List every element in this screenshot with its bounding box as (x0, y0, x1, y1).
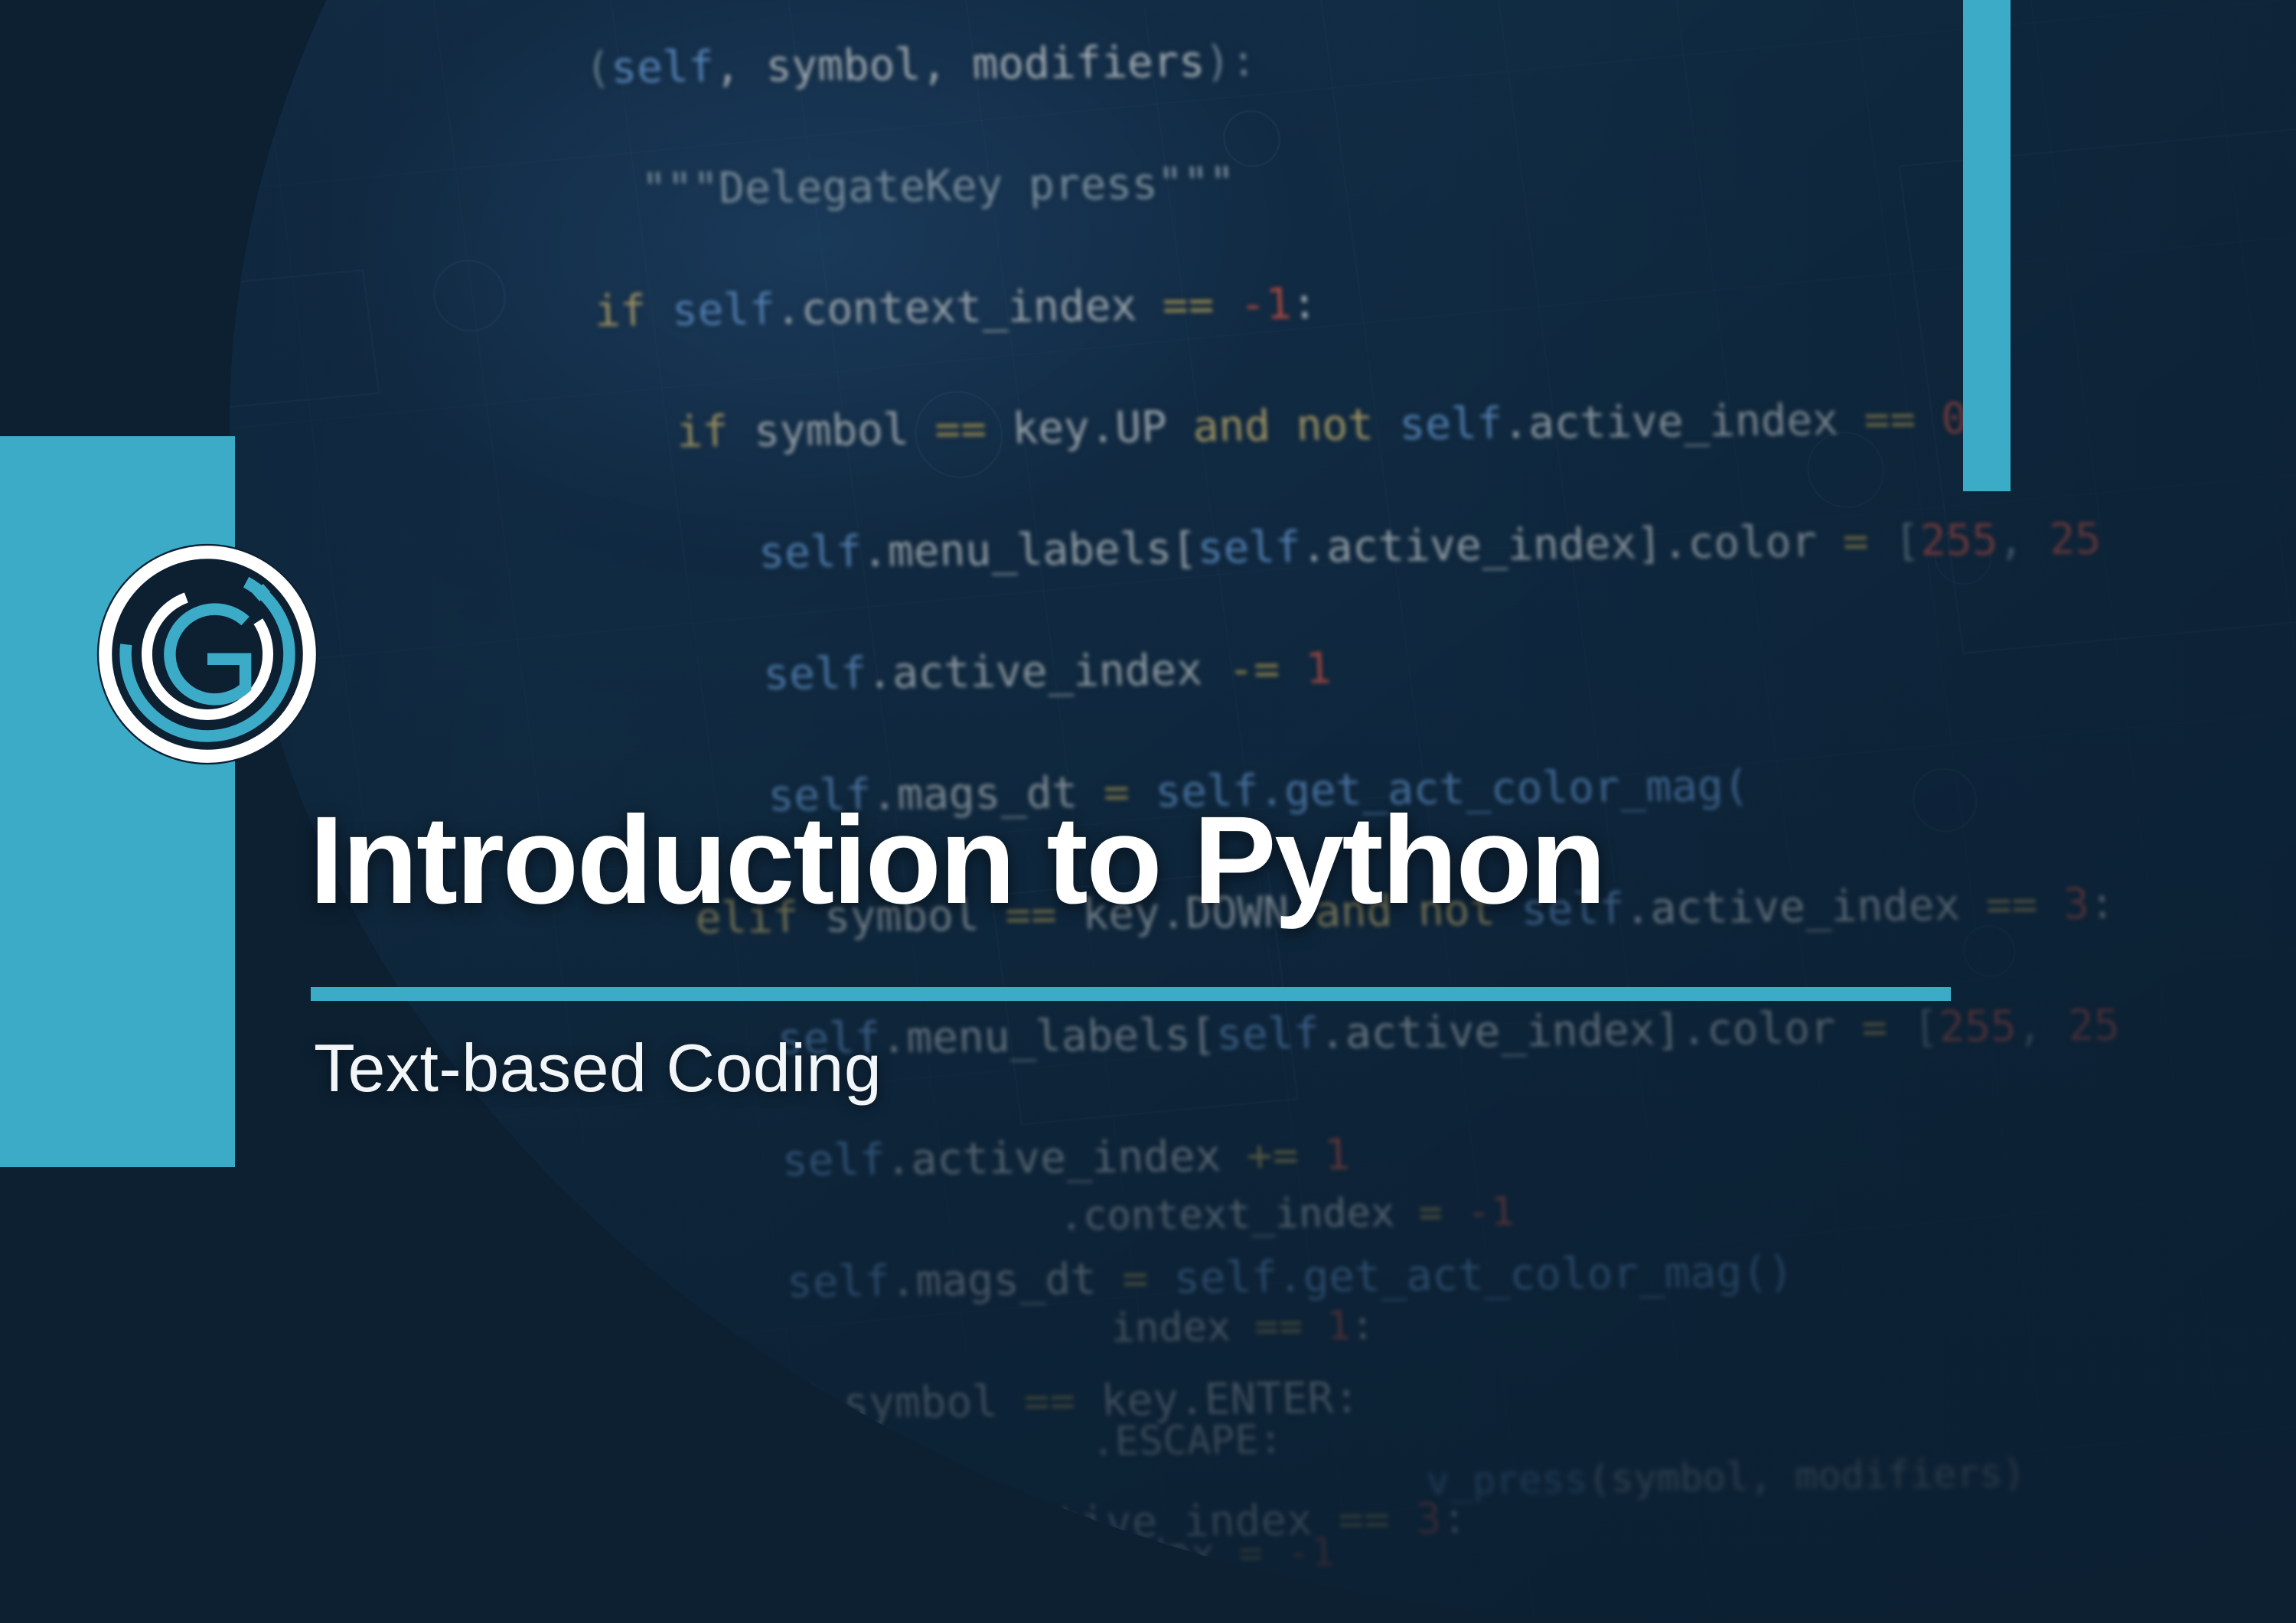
slide-subtitle: Text-based Coding (314, 1035, 882, 1102)
circular-g-logo-icon (89, 536, 326, 773)
accent-bar-vertical (1963, 0, 2011, 491)
brand-logo (89, 536, 326, 773)
slide-canvas: (self, symbol, modifiers): """DelegateKe… (0, 0, 2296, 1623)
slide-title: Introduction to Python (309, 797, 1604, 922)
title-divider (311, 987, 1951, 1001)
